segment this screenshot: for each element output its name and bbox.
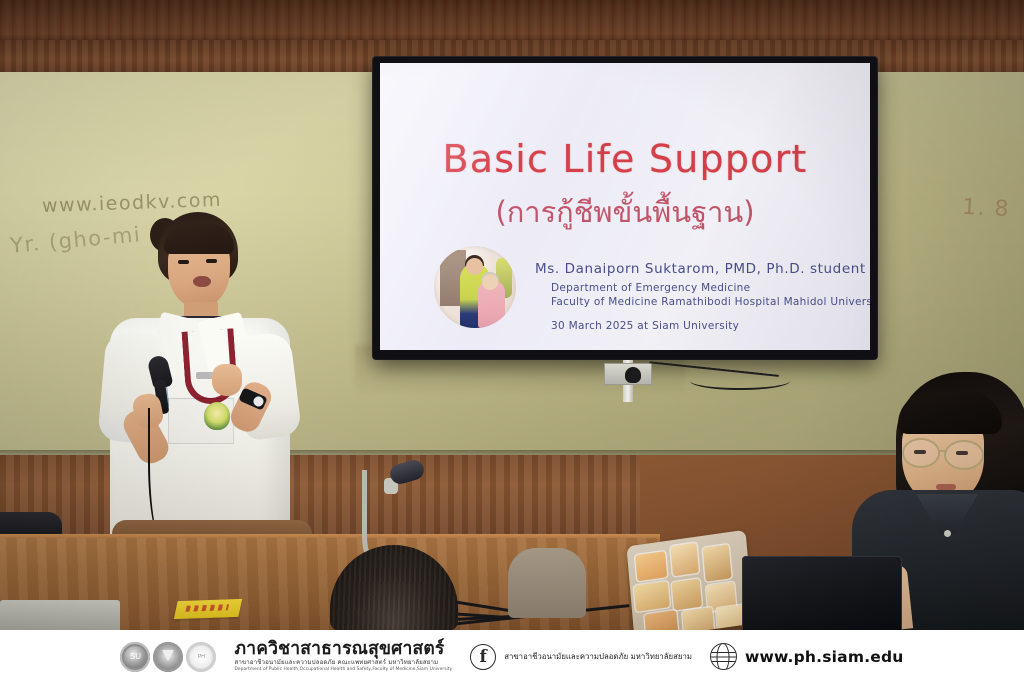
presenter-right-eye [206,259,217,263]
grey-device-left [0,600,120,634]
website-contact[interactable]: www.ph.siam.edu [710,643,904,670]
wall-power-outlet [604,363,652,385]
presenter-department: Department of Emergency Medicine [535,281,865,295]
standing-presenter [80,212,320,572]
presenter-uniform-emblem [204,402,230,430]
faculty-of-medicine-logo [153,642,183,672]
presenter-mouth [193,276,211,287]
lecture-room-photo: www.ieodkv.com Yr. (gho-mi 1. 8 Basic Li… [0,0,1024,683]
presentation-slide: Basic Life Support (การกู้ชีพขั้นพื้นฐาน… [380,63,870,350]
eyeglasses-bridge [939,450,947,452]
university-logos: SU PH [120,642,216,672]
eyeglasses-left-lens [902,438,940,468]
department-title-thai: ภาควิชาสาธารณสุขศาสตร์ [234,640,452,658]
attendee-fringe [898,392,1002,434]
footer-banner: SU PH ภาควิชาสาธารณสุขศาสตร์ สาขาอาชีวอน… [0,630,1024,683]
presenter-name: Ms. Danaiporn Suktarom, PMD, Ph.D. stude… [535,261,865,277]
eyeglasses-right-lens [944,440,984,470]
tv-power-cord-loop [690,372,790,390]
slide-presenter-block: Ms. Danaiporn Suktarom, PMD, Ph.D. stude… [535,261,865,332]
globe-latitude-bottom [710,661,737,662]
globe-latitude-top [710,652,737,653]
slide-subtitle-thai: (การกู้ชีพขั้นพื้นฐาน) [380,189,870,235]
attendee-shirt-button [944,530,951,537]
presenter-faculty: Faculty of Medicine Ramathibodi Hospital… [535,295,865,309]
tv-screen: Basic Life Support (การกู้ชีพขั้นพื้นฐาน… [380,63,870,350]
facebook-icon[interactable]: f [470,644,496,670]
photo-person-b-head [482,274,498,290]
black-laptop [742,556,902,632]
presenter-left-eye [178,260,189,264]
public-health-logo: PH [186,642,216,672]
presentation-date-venue: 30 March 2025 at Siam University [535,320,865,332]
wall-mounted-tv: Basic Life Support (การกู้ชีพขั้นพื้นฐาน… [373,57,877,359]
yellow-table-sticker [174,599,242,619]
photo-person-a-head [466,258,483,275]
university-seal-logo: SU [120,642,150,672]
department-name-block: ภาควิชาสาธารณสุขศาสตร์ สาขาอาชีวอนามัยแล… [234,640,452,673]
website-url[interactable]: www.ph.siam.edu [745,648,904,666]
slide-title: Basic Life Support [380,137,870,181]
department-subtitle-thai: สาขาอาชีวอนามัยและความปลอดภัย คณะแพทยศาส… [234,660,452,667]
presenter-fringe [164,224,234,254]
power-plug [625,367,641,383]
facebook-contact[interactable]: f สาขาอาชีวอนามัยและความปลอดภัย มหาวิทยา… [470,644,692,670]
whiteboard-right-marking: 1. 8 [961,195,1010,222]
foreground-chair-back [508,548,586,618]
presenter-portrait-photo [434,246,516,328]
presenter-raised-hand [212,364,242,396]
laptop-with-stickers [626,530,753,640]
department-subtitle-english: Department of Public Health,Occupational… [234,668,452,673]
facebook-page-name: สาขาอาชีวอนามัยและความปลอดภัย มหาวิทยาลั… [504,651,692,663]
globe-icon[interactable] [710,643,737,670]
